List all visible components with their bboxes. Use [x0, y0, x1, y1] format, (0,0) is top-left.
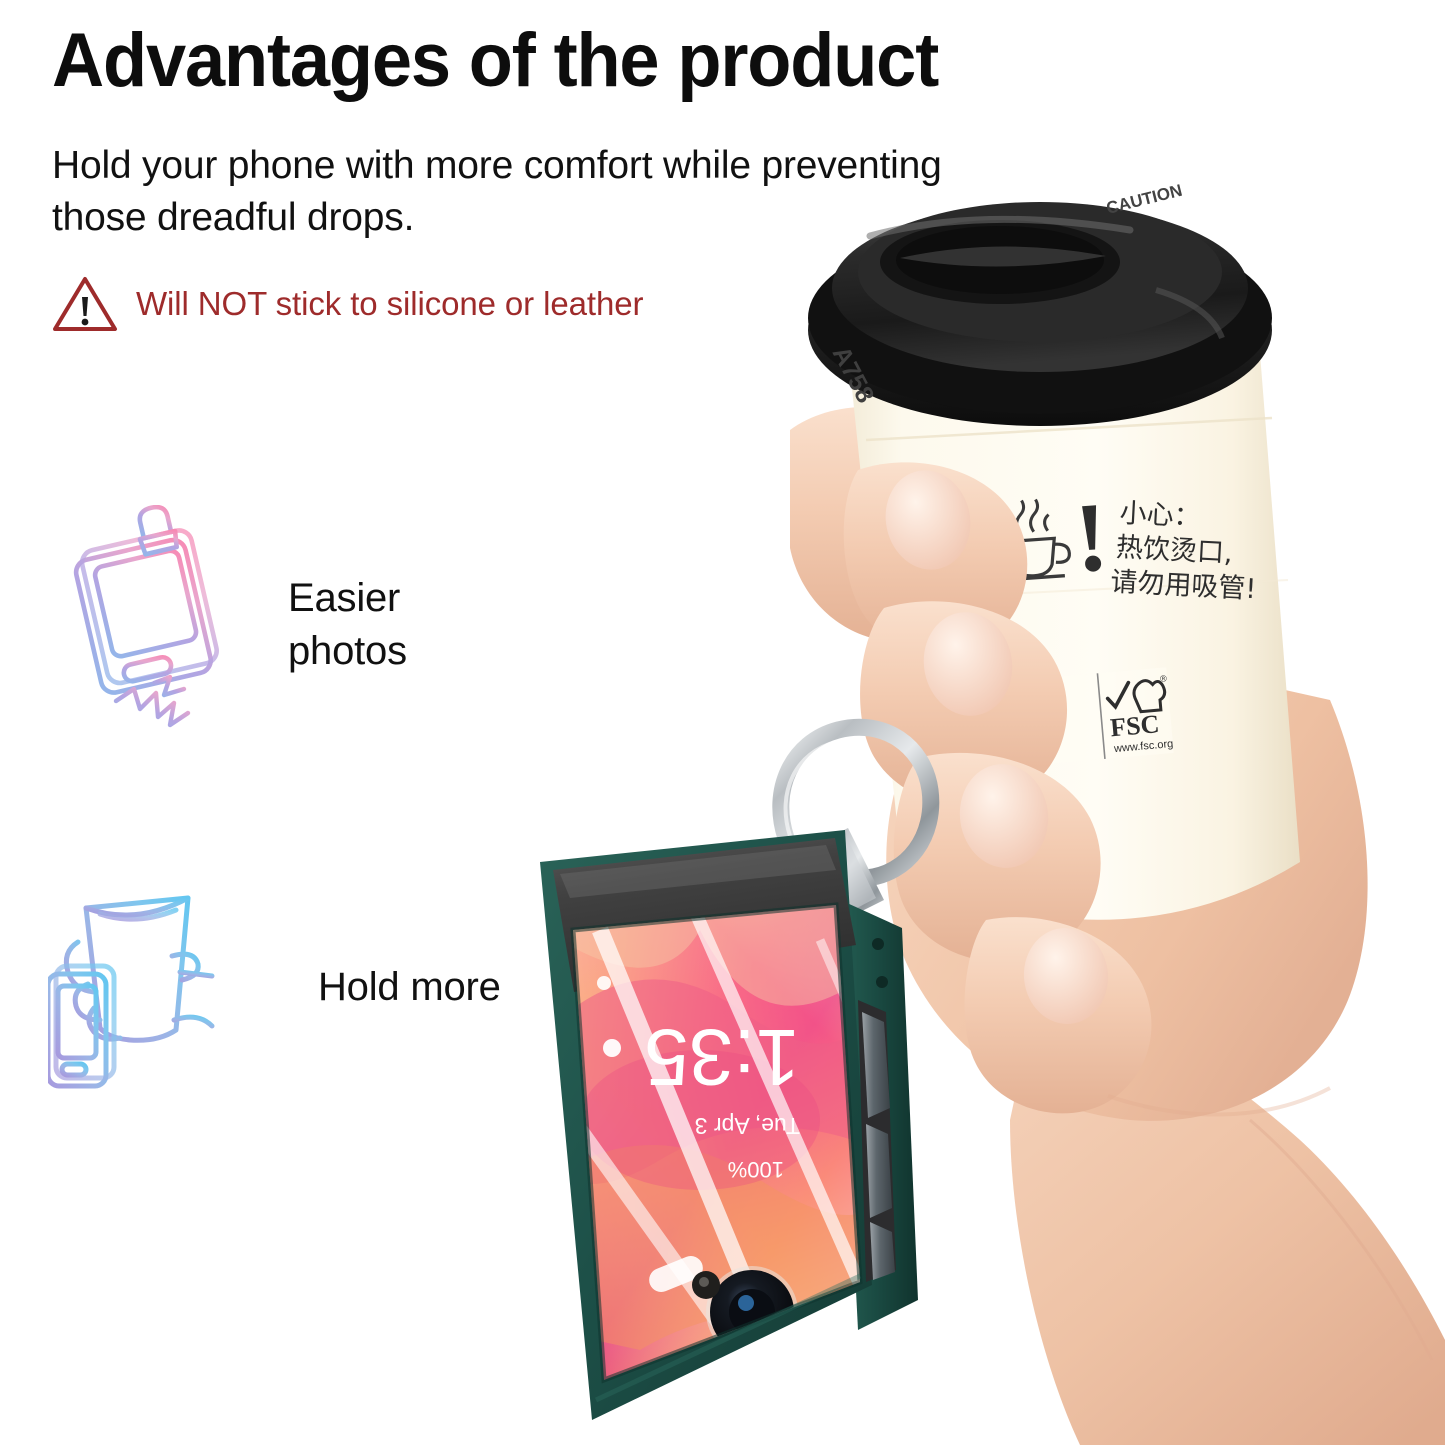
svg-text:84PE: 84PE — [978, 750, 1006, 764]
recycle-icon: c 84PE — [970, 707, 1011, 765]
speaker-hole — [876, 976, 888, 988]
secondary-camera-lens — [775, 1305, 855, 1385]
svg-text:c: c — [984, 718, 991, 730]
warning-triangle-icon — [52, 275, 118, 333]
warning-banner: Will NOT stick to silicone or leather — [52, 275, 643, 333]
phone-screen: 100% Tue, Apr 3 1:35 — [540, 880, 900, 1400]
feature-label-hold-more: Hold more — [318, 961, 501, 1014]
cup-warning-label: 小心： 热饮烫口, 请勿用吸管! — [1000, 484, 1259, 622]
camera-module — [692, 1266, 859, 1389]
svg-text:热饮烫口,: 热饮烫口, — [1115, 532, 1233, 569]
power-button — [870, 1222, 895, 1280]
coffee-cup: 小心： 热饮烫口, 请勿用吸管! 0111-689) 好 80 杯 — [848, 328, 1300, 920]
page-subtitle: Hold your phone with more comfort while … — [52, 140, 1012, 244]
cup-certification-band: c 84PE ld's Printed ® FSC www.fsc.org — [952, 667, 1174, 772]
fingers — [844, 462, 1330, 1114]
svg-text:CAUTION: CAUTION — [1104, 181, 1184, 218]
svg-text:0111-689): 0111-689) — [970, 506, 1012, 601]
volume-down-button — [866, 1124, 892, 1218]
ring-bracket-text: 0.4C — [814, 882, 843, 918]
feature-easier-photos: Easier photos — [58, 505, 407, 745]
lid-embossed-text: A758 — [827, 342, 880, 408]
warning-text: Will NOT stick to silicone or leather — [136, 285, 643, 323]
hand — [790, 407, 1368, 1121]
svg-text:®: ® — [1160, 673, 1168, 684]
screen-time: 1:35 — [644, 1013, 800, 1102]
arm — [1010, 980, 1445, 1445]
volume-up-button — [862, 1012, 890, 1118]
cup-print-code: 0111-689) 好 80 杯 — [939, 506, 1012, 613]
svg-text:请勿用吸管!: 请勿用吸管! — [1110, 567, 1257, 606]
svg-text:好 80 杯: 好 80 杯 — [939, 532, 979, 613]
main-camera-lens — [710, 1270, 794, 1354]
svg-text:www.fsc.org: www.fsc.org — [1113, 738, 1174, 755]
screen-date: Tue, Apr 3 — [695, 1113, 800, 1139]
svg-text:FSC: FSC — [1109, 709, 1160, 742]
svg-text:小心：: 小心： — [1119, 498, 1202, 533]
feature-label-easier-photos: Easier photos — [288, 572, 407, 678]
speaker-hole — [872, 938, 884, 950]
phone-with-ring-strap-camera-flash-icon — [58, 505, 278, 745]
hand-holding-cup-and-phone-icon — [48, 880, 288, 1095]
phone-top-panel — [553, 838, 856, 992]
feature-hold-more: Hold more — [48, 880, 501, 1095]
fsc-logo: ® FSC www.fsc.org — [1106, 673, 1174, 755]
product-advantages-banner: 小心： 热饮烫口, 请勿用吸管! 0111-689) 好 80 杯 — [0, 0, 1445, 1445]
svg-text:ld's Printed: ld's Printed — [1031, 677, 1062, 753]
metal-finger-ring-holder: 0.4C — [781, 727, 931, 924]
screen-battery: 100% — [728, 1157, 784, 1182]
phone-side-buttons — [858, 1000, 896, 1282]
flash-sensor — [692, 1271, 720, 1299]
phone-with-case: 100% Tue, Apr 3 1:35 — [540, 830, 918, 1420]
page-title: Advantages of the product — [52, 22, 938, 100]
screen-status: 100% Tue, Apr 3 1:35 — [644, 1013, 800, 1182]
